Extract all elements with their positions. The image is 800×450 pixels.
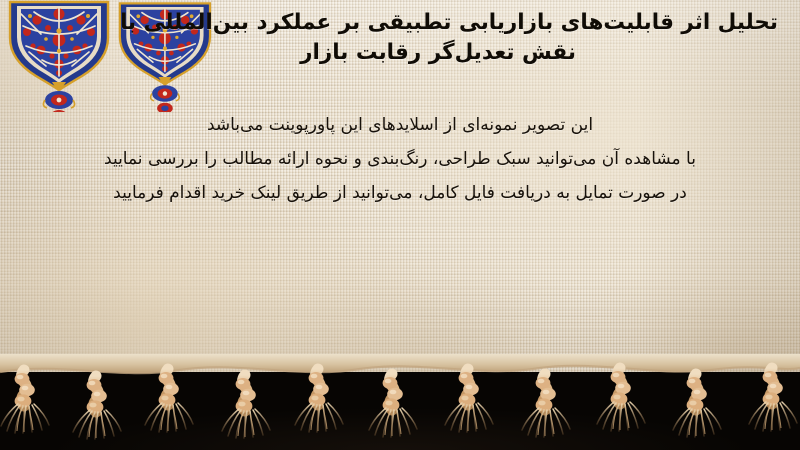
slide-canvas: تحلیل اثر قابلیت‌های بازاریابی تطبیقی بر… [0, 0, 800, 450]
carpet-fringe-tassels [0, 354, 800, 450]
fringe-svg [0, 354, 800, 450]
slide-body: این تصویر نمونه‌ای از اسلایدهای این پاور… [0, 108, 800, 210]
body-line-3: در صورت تمایل به دریافت فایل کامل، می‌تو… [0, 176, 800, 210]
body-line-2: با مشاهده آن می‌توانید سبک طراحی، رنگ‌بن… [0, 142, 800, 176]
title-line-1: تحلیل اثر قابلیت‌های بازاریابی تطبیقی بر… [138, 8, 778, 38]
slide-title: تحلیل اثر قابلیت‌های بازاریابی تطبیقی بر… [138, 8, 778, 68]
body-line-1: این تصویر نمونه‌ای از اسلایدهای این پاور… [0, 108, 800, 142]
title-line-2: نقش تعدیل‌گر رقابت بازار [138, 38, 778, 68]
